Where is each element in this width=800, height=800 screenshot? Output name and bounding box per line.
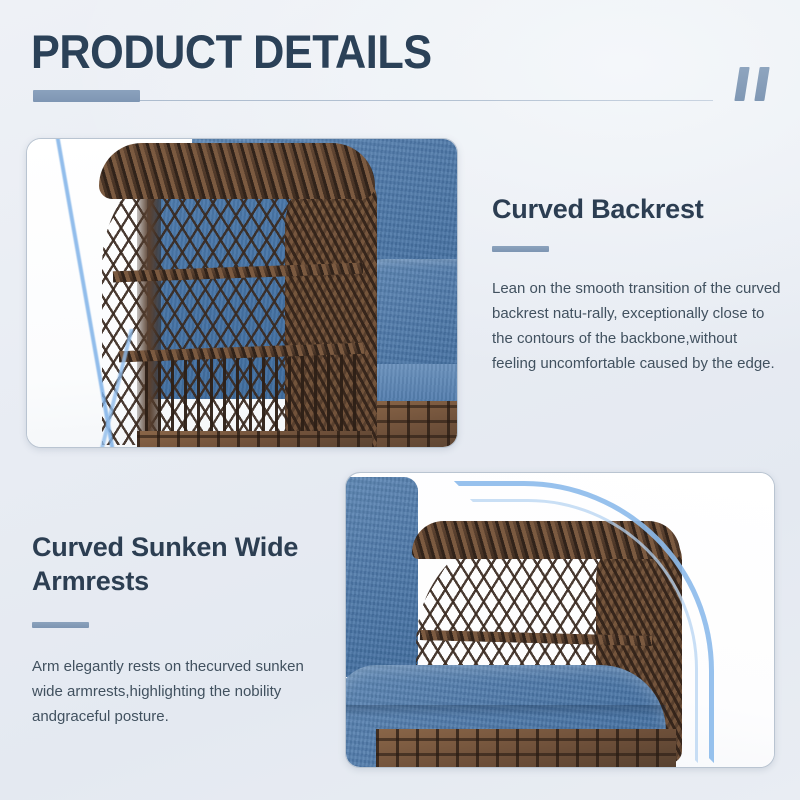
header-accent-bar xyxy=(33,90,140,102)
feature-text-curved-sunken-wide-armrests: Curved Sunken Wide Armrests Arm elegantl… xyxy=(32,530,317,729)
double-slash-quote-icon xyxy=(733,67,775,103)
feature-body: Arm elegantly rests on thecurved sunken … xyxy=(32,654,317,729)
feature-divider xyxy=(492,246,549,252)
feature-text-curved-backrest: Curved Backrest Lean on the smooth trans… xyxy=(492,192,784,376)
photo-artwork xyxy=(27,139,457,447)
feature-image-curved-backrest xyxy=(26,138,458,448)
cushion-backrest xyxy=(346,477,418,677)
page-title: PRODUCT DETAILS xyxy=(31,24,432,80)
feature-image-curved-sunken-wide-armrests xyxy=(345,472,775,768)
photo-artwork xyxy=(346,473,774,767)
feature-heading: Curved Sunken Wide Armrests xyxy=(32,530,317,598)
header: PRODUCT DETAILS xyxy=(0,0,800,125)
feature-divider xyxy=(32,622,89,628)
feature-heading: Curved Backrest xyxy=(492,192,784,226)
feature-body: Lean on the smooth transition of the cur… xyxy=(492,276,784,376)
product-details-page: PRODUCT DETAILS xyxy=(0,0,800,800)
